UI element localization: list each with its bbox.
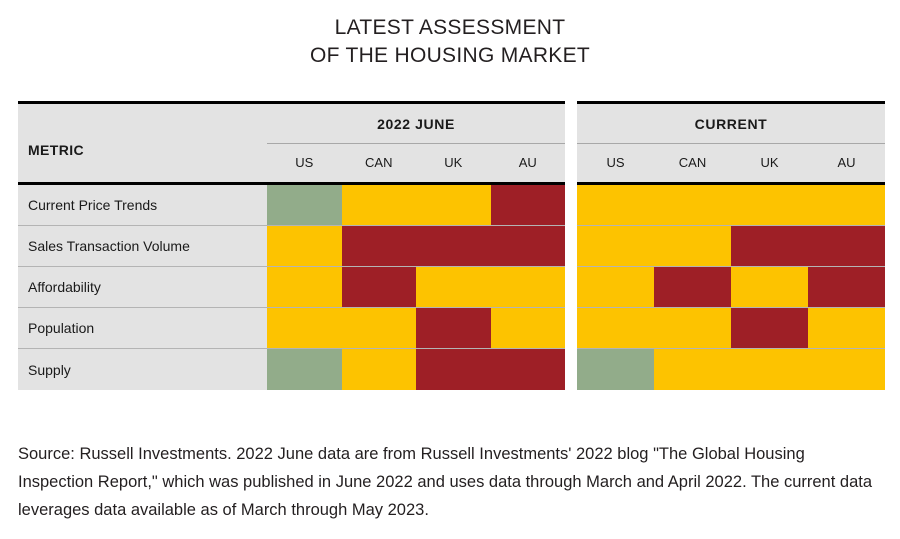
heat-cell — [808, 267, 885, 307]
table-row: Population — [18, 308, 565, 349]
heat-cell — [416, 349, 491, 390]
heat-cell — [577, 308, 654, 348]
row-label: Current Price Trends — [18, 185, 267, 225]
country-header-group: 2022 JUNE US CAN UK AU — [267, 104, 565, 182]
heat-cell — [654, 185, 731, 225]
table-row — [577, 185, 885, 226]
row-label: Sales Transaction Volume — [18, 226, 267, 266]
heat-cell — [267, 267, 342, 307]
row-cells — [267, 267, 565, 307]
heat-cell — [731, 308, 808, 348]
metric-header-cell: METRIC — [18, 104, 267, 182]
column-header-uk: UK — [731, 144, 808, 181]
heat-cell — [491, 185, 566, 225]
column-header-can: CAN — [654, 144, 731, 181]
heat-cell — [577, 185, 654, 225]
table-row — [577, 349, 885, 390]
country-header-group: CURRENT US CAN UK AU — [577, 104, 885, 182]
table-row: Supply — [18, 349, 565, 390]
country-header-row: US CAN UK AU — [577, 144, 885, 181]
column-header-au: AU — [491, 144, 566, 181]
heat-cell — [267, 349, 342, 390]
heat-cell — [654, 226, 731, 266]
heat-cell — [654, 308, 731, 348]
row-cells — [267, 308, 565, 348]
panel-header: CURRENT US CAN UK AU — [577, 104, 885, 182]
row-label: Affordability — [18, 267, 267, 307]
panel-body: Current Price Trends Sales Transaction V… — [18, 185, 565, 390]
title-line-1: LATEST ASSESSMENT — [0, 14, 900, 42]
heat-cell — [416, 226, 491, 266]
heat-cell — [808, 185, 885, 225]
row-cells — [267, 349, 565, 390]
row-cells — [577, 185, 885, 225]
heat-cell — [808, 226, 885, 266]
source-note: Source: Russell Investments. 2022 June d… — [18, 440, 878, 524]
heat-cell — [491, 267, 566, 307]
row-label: Population — [18, 308, 267, 348]
heat-cell — [416, 185, 491, 225]
group-header-label: 2022 JUNE — [267, 104, 565, 144]
heat-cell — [342, 226, 417, 266]
heatmap-table: METRIC 2022 JUNE US CAN UK AU Current Pr… — [18, 101, 885, 390]
panel-body — [577, 185, 885, 390]
metric-header-label: METRIC — [28, 142, 84, 158]
heat-cell — [267, 308, 342, 348]
panel-current: CURRENT US CAN UK AU — [577, 101, 885, 390]
heat-cell — [808, 308, 885, 348]
title-line-2: OF THE HOUSING MARKET — [0, 42, 900, 70]
table-row — [577, 226, 885, 267]
panel-2022-june: METRIC 2022 JUNE US CAN UK AU Current Pr… — [18, 101, 565, 390]
row-cells — [577, 349, 885, 390]
table-row: Affordability — [18, 267, 565, 308]
column-header-uk: UK — [416, 144, 491, 181]
table-row — [577, 308, 885, 349]
row-label: Supply — [18, 349, 267, 390]
country-header-row: US CAN UK AU — [267, 144, 565, 181]
heat-cell — [654, 267, 731, 307]
table-row: Current Price Trends — [18, 185, 565, 226]
heat-cell — [731, 185, 808, 225]
table-row — [577, 267, 885, 308]
page-title: LATEST ASSESSMENT OF THE HOUSING MARKET — [0, 14, 900, 70]
heat-cell — [491, 349, 566, 390]
heat-cell — [577, 267, 654, 307]
column-header-can: CAN — [342, 144, 417, 181]
heat-cell — [416, 267, 491, 307]
heat-cell — [342, 308, 417, 348]
heat-cell — [491, 308, 566, 348]
heat-cell — [342, 267, 417, 307]
panel-header: METRIC 2022 JUNE US CAN UK AU — [18, 104, 565, 182]
row-cells — [267, 185, 565, 225]
heat-cell — [342, 349, 417, 390]
heat-cell — [416, 308, 491, 348]
heat-cell — [491, 226, 566, 266]
column-header-us: US — [577, 144, 654, 181]
column-header-us: US — [267, 144, 342, 181]
heat-cell — [731, 226, 808, 266]
heat-cell — [731, 349, 808, 390]
row-cells — [577, 226, 885, 266]
heat-cell — [808, 349, 885, 390]
heat-cell — [342, 185, 417, 225]
heat-cell — [654, 349, 731, 390]
chart-page: LATEST ASSESSMENT OF THE HOUSING MARKET … — [0, 0, 900, 539]
row-cells — [267, 226, 565, 266]
heat-cell — [731, 267, 808, 307]
heat-cell — [267, 185, 342, 225]
row-cells — [577, 267, 885, 307]
group-header-label: CURRENT — [577, 104, 885, 144]
heat-cell — [267, 226, 342, 266]
table-row: Sales Transaction Volume — [18, 226, 565, 267]
heat-cell — [577, 226, 654, 266]
heat-cell — [577, 349, 654, 390]
column-header-au: AU — [808, 144, 885, 181]
row-cells — [577, 308, 885, 348]
